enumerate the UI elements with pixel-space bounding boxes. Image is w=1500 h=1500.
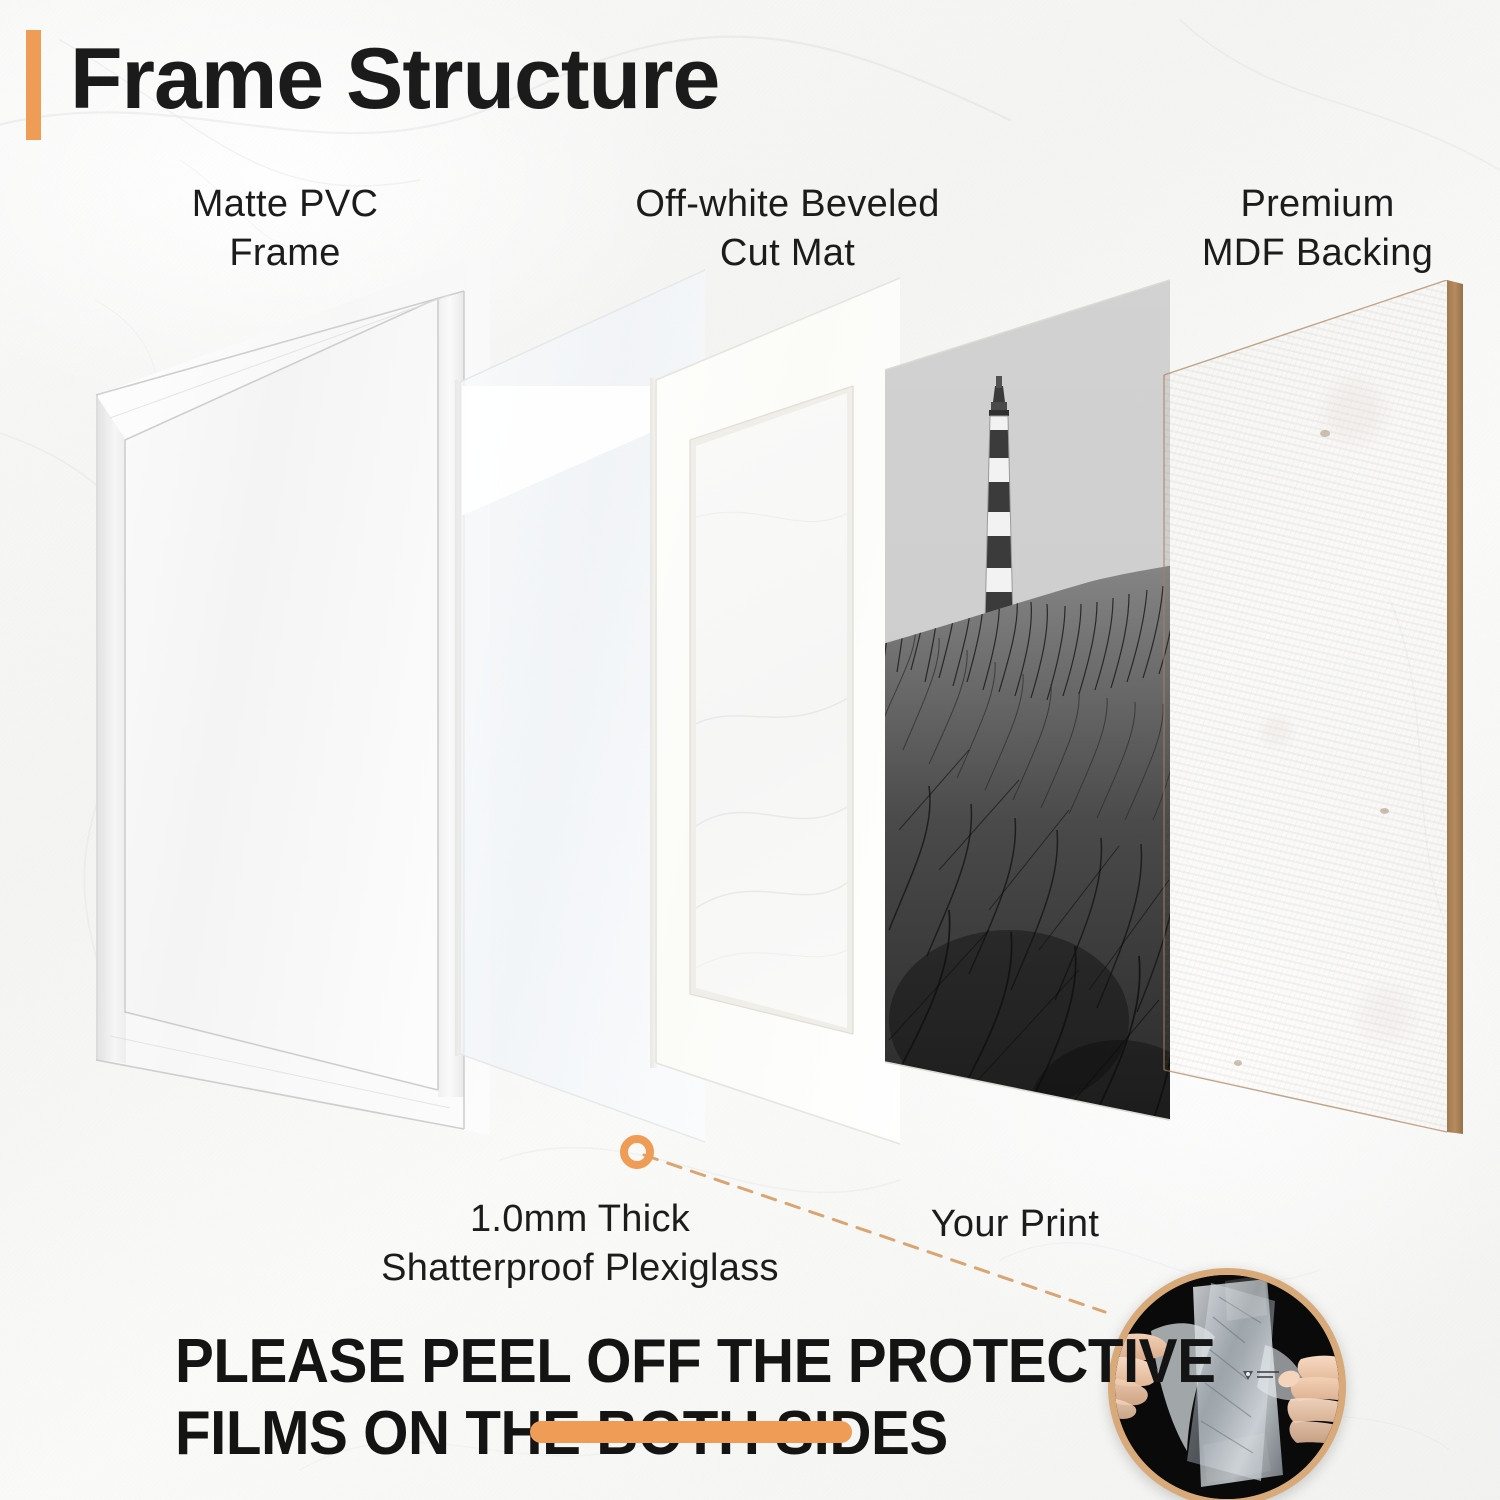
callout-mdf-line1: Premium: [1135, 180, 1500, 229]
callout-mdf-line2: MDF Backing: [1135, 229, 1500, 278]
title-accent-bar: [26, 30, 41, 140]
notice-line-1: PLEASE PEEL OFF THE PROTECTIVE: [175, 1326, 1040, 1398]
callout-frame-line2: Frame: [120, 229, 450, 278]
mat-outline: [648, 268, 900, 1198]
callout-mat-line2: Cut Mat: [575, 229, 1000, 278]
callout-matte-pvc-frame: Matte PVC Frame: [120, 180, 450, 277]
protective-film-notice: PLEASE PEEL OFF THE PROTECTIVE FILMS ON …: [175, 1326, 1040, 1470]
layer-pvc-frame: [70, 250, 490, 1200]
connector-line: [600, 1120, 1160, 1350]
infographic-canvas: Frame Structure: [0, 0, 1500, 1500]
connector-origin-marker: [624, 1139, 650, 1165]
layer-mdf-backing: [1162, 280, 1472, 1220]
layer-your-print: [885, 272, 1170, 1162]
print-outline: [885, 272, 1170, 1162]
layer-cut-mat: [648, 268, 900, 1198]
page-title: Frame Structure: [70, 28, 719, 131]
callout-mat-line1: Off-white Beveled: [575, 180, 1000, 229]
mdf-outline: [1162, 280, 1472, 1220]
callout-frame-line1: Matte PVC: [120, 180, 450, 229]
callout-cut-mat: Off-white Beveled Cut Mat: [575, 180, 1000, 277]
notice-highlight-bar: [530, 1421, 852, 1443]
callout-mdf-backing: Premium MDF Backing: [1135, 180, 1500, 277]
frame-outline-strokes: [70, 250, 490, 1200]
